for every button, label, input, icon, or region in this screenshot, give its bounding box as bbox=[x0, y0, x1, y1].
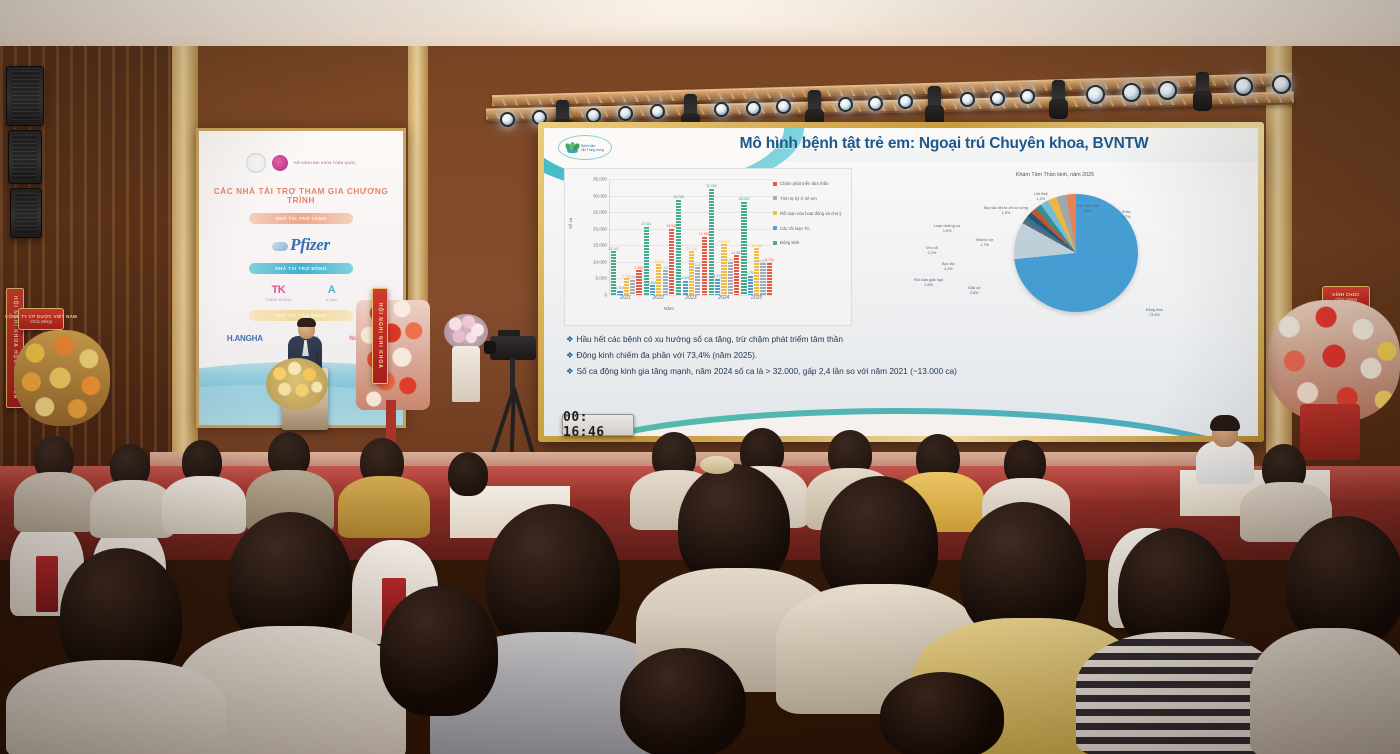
legend-label: Tình tự kỷ ở trẻ em bbox=[780, 196, 817, 201]
bar: 2.880 bbox=[650, 285, 655, 295]
sponsor-pfizer-logo: Pfizer bbox=[199, 235, 403, 255]
presenter-hair bbox=[297, 318, 316, 327]
sponsor-item: A A Nam bbox=[326, 284, 337, 302]
stage-light bbox=[1158, 81, 1177, 100]
pie-slice-label: Bại não2,4% bbox=[942, 262, 955, 271]
audience-body-foreground bbox=[6, 660, 226, 754]
legend-item: Động kinh bbox=[773, 240, 847, 245]
bar: 4.910 bbox=[715, 279, 720, 295]
bar: 28.083 bbox=[741, 202, 746, 295]
moving-head-fixture bbox=[928, 86, 941, 120]
bar-chart-legend: Chậm phát triển tâm thầnTình tự kỷ ở trẻ… bbox=[773, 181, 847, 255]
bar-chart-y-ticks: 05,00010,00015,00020,00025,00030,00035,0… bbox=[575, 179, 607, 295]
slide-title: Mô hình bệnh tật trẻ em: Ngoại trú Chuyê… bbox=[640, 135, 1248, 153]
wall-pillar-right bbox=[1266, 46, 1292, 476]
presentation-slide: Bệnh viện Nhi Trung ương Mô hình bệnh tậ… bbox=[544, 128, 1258, 436]
wall-pillar-left bbox=[172, 46, 198, 476]
pie-slice-name: Vẹo cổ bbox=[926, 246, 938, 251]
stage-light bbox=[1122, 83, 1141, 102]
legend-item: Rối loạn của hoạt động và chú ý bbox=[773, 211, 847, 216]
pie-slice-value: 2,2% bbox=[926, 251, 938, 256]
legend-item: Chậm phát triển tâm thần bbox=[773, 181, 847, 186]
slide-bullet: ❖Hầu hết các bệnh có xu hướng số ca tăng… bbox=[566, 334, 1242, 345]
bar: 4.378 bbox=[683, 281, 688, 296]
stage-light bbox=[898, 94, 913, 109]
y-tick-label: 30,000 bbox=[593, 193, 607, 198]
congrats-sign-left: CÔNG TY CP DƯỢC VIỆT NAM Chúc Mừng bbox=[18, 308, 64, 330]
pie-slice-label: Giật cơ2,8% bbox=[968, 286, 980, 295]
pie-slice-value: 1,6% bbox=[934, 229, 960, 234]
slide-bullets: ❖Hầu hết các bệnh có xu hướng số ca tăng… bbox=[566, 334, 1242, 381]
stage-light bbox=[746, 101, 761, 116]
pfizer-pill-icon bbox=[272, 242, 288, 251]
pie-slice-name: Giật cơ bbox=[968, 286, 980, 291]
x-tick-label: 2024 bbox=[718, 295, 729, 307]
bullet-marker-icon: ❖ bbox=[566, 366, 573, 376]
bar: 11.937 bbox=[734, 255, 739, 295]
legend-label: Rối loạn của hoạt động và chú ý bbox=[780, 211, 841, 216]
y-tick-label: 20,000 bbox=[593, 226, 607, 231]
legend-swatch bbox=[773, 182, 777, 186]
org-seal-icon bbox=[246, 153, 266, 173]
slide-bullet-text: Số ca động kinh gia tăng mạnh, năm 2024 … bbox=[576, 366, 956, 376]
bar-value-label: 8.445 bbox=[693, 263, 702, 267]
audience-head-foreground bbox=[620, 648, 746, 754]
conference-photo: HỘI NGHỊ NHI KHOA TOÀN QUỐC CÁC NHÀ TÀI … bbox=[0, 0, 1400, 754]
bar-value-label: 9.733 bbox=[765, 258, 774, 262]
pie-slice-value: 2,4% bbox=[942, 267, 955, 272]
legend-swatch bbox=[773, 196, 777, 200]
bullet-marker-icon: ❖ bbox=[566, 334, 573, 344]
bar: 7.515 bbox=[663, 270, 668, 295]
bar-value-label: 9.276 bbox=[655, 260, 664, 264]
audience-head bbox=[448, 452, 488, 496]
pie-slice-label: Bại não liệt tứ chi co cứng1,5% bbox=[984, 206, 1028, 215]
pie-slice-value: 1,7% bbox=[976, 243, 993, 248]
pie-slice-name: Rối loạn giấc ngủ bbox=[914, 278, 943, 283]
legend-swatch bbox=[773, 241, 777, 245]
stage-light bbox=[714, 102, 729, 117]
flower-wreath-large bbox=[356, 300, 430, 410]
led-screen-frame: Bệnh viện Nhi Trung ương Mô hình bệnh tậ… bbox=[538, 122, 1264, 442]
pie-slice-name: Nhược cơ bbox=[976, 238, 993, 243]
flower-arrangement-podium bbox=[266, 358, 328, 410]
legend-label: Chậm phát triển tâm thần bbox=[780, 181, 829, 186]
pie-slice-name: Bại não liệt tứ chi co cứng bbox=[984, 206, 1028, 211]
sponsor-pfizer-name: Pfizer bbox=[290, 235, 330, 254]
stage-light bbox=[500, 112, 515, 127]
legend-item: Các rối loạn Tic bbox=[773, 226, 847, 231]
bar: 14.135 bbox=[754, 248, 759, 295]
pa-speaker-left-mid bbox=[8, 130, 42, 184]
stage-light bbox=[990, 91, 1005, 106]
poster-org-logos: HỘI NGHỊ NHI KHOA TOÀN QUỐC bbox=[199, 131, 403, 173]
x-tick-label: 2025 bbox=[751, 295, 762, 307]
stage-light bbox=[838, 97, 853, 112]
poster-tier-gold: NHÀ TÀI TRỢ VÀNG bbox=[249, 213, 353, 224]
org-mark-icon bbox=[272, 155, 288, 171]
bar-group: 20.6112.8809.2767.51519.948 bbox=[644, 179, 675, 295]
pie-slice-label: Rối loạn giấc ngủ2,6% bbox=[914, 278, 943, 287]
audience-body bbox=[14, 472, 96, 532]
pie-slice-label: Liệt Bell1,2% bbox=[1034, 192, 1048, 201]
pie-slice-label: Vẹo cổ2,2% bbox=[926, 246, 938, 255]
y-tick-label: 0 bbox=[604, 293, 607, 298]
bar: 17.518 bbox=[702, 237, 707, 295]
pie-slice-label: Khác9,7% bbox=[1122, 210, 1131, 219]
pie-slice-value: 73,4% bbox=[1146, 313, 1163, 318]
pie-slice-name: Động kinh bbox=[1146, 308, 1163, 313]
sponsor-item: TK THANH KHANG bbox=[265, 284, 292, 302]
moving-head-fixture bbox=[1196, 72, 1209, 106]
pie-slice-value: 9,7% bbox=[1122, 215, 1131, 220]
pie-chart: Khám Tâm Thần kinh, năm 2025 Động kinh73… bbox=[864, 168, 1246, 326]
bar-value-label: 13.147 bbox=[608, 247, 619, 251]
legend-label: Động kinh bbox=[780, 240, 799, 245]
bar: 28.789 bbox=[676, 200, 681, 295]
bar: 7.526 bbox=[636, 270, 641, 295]
stage-light bbox=[618, 106, 633, 121]
pie-slice-value: 1,5% bbox=[984, 211, 1028, 216]
bar-value-label: 1.305 bbox=[616, 286, 625, 290]
x-tick-label: 2023 bbox=[685, 295, 696, 307]
stage-light bbox=[650, 104, 665, 119]
stage-light bbox=[776, 99, 791, 114]
sponsor-sub: A Nam bbox=[326, 298, 337, 302]
stage-light bbox=[1020, 89, 1035, 104]
bar: 8.445 bbox=[695, 267, 700, 295]
bar: 9.828 bbox=[728, 262, 733, 295]
pie-slice-name: Khác bbox=[1122, 210, 1131, 215]
bar: 5.111 bbox=[624, 278, 629, 295]
poster-headline: CÁC NHÀ TÀI TRỢ THAM GIA CHƯƠNG TRÌNH bbox=[199, 187, 403, 205]
vertical-banner-mid-left: HỘI NGHỊ NHI KHOA bbox=[372, 288, 388, 384]
flower-vase-right bbox=[1300, 404, 1360, 460]
y-tick-label: 35,000 bbox=[593, 177, 607, 182]
pie-slice-label: Tràn dịch não0,9% bbox=[1076, 204, 1099, 213]
ceiling-light-glow bbox=[430, 0, 970, 46]
y-tick-label: 15,000 bbox=[593, 243, 607, 248]
hospital-logo-text: Bệnh viện Nhi Trung ương bbox=[581, 144, 603, 152]
bar-chart-x-ticks: 20212022202320242025 bbox=[609, 295, 773, 307]
legend-swatch bbox=[773, 226, 777, 230]
audience-head-foreground bbox=[380, 586, 498, 716]
sponsor-mark: A bbox=[326, 284, 337, 296]
audience-body bbox=[338, 476, 430, 538]
legend-swatch bbox=[773, 211, 777, 215]
stage-light bbox=[586, 108, 601, 123]
moving-head-fixture bbox=[808, 90, 821, 124]
bar-chart-x-axis-label: Năm bbox=[565, 307, 773, 312]
bar: 19.948 bbox=[669, 229, 674, 295]
congrats-sign-left-line2: Chúc Mừng bbox=[30, 319, 52, 324]
bar-value-label: 14.135 bbox=[751, 244, 762, 248]
pie-slice-name: Liệt Bell bbox=[1034, 192, 1048, 197]
bar-chart-plot: 13.1471.3055.1114.5907.52620.6112.8809.2… bbox=[609, 179, 773, 295]
stage-light bbox=[1234, 77, 1253, 96]
stage-light bbox=[1272, 75, 1291, 94]
bullet-marker-icon: ❖ bbox=[566, 350, 573, 360]
pie-slice-label: Động kinh73,4% bbox=[1146, 308, 1163, 317]
bar-chart: Số ca 05,00010,00015,00020,00025,00030,0… bbox=[564, 168, 852, 326]
audience-body bbox=[162, 476, 246, 534]
bar-group: 13.1471.3055.1114.5907.526 bbox=[611, 179, 642, 295]
audience-body-foreground bbox=[1250, 628, 1400, 754]
bar-value-label: 20.611 bbox=[641, 222, 651, 226]
sponsor-name: H.ANGHA bbox=[227, 334, 263, 343]
bar-value-label: 13.132 bbox=[686, 247, 697, 251]
bar: 4.590 bbox=[630, 280, 635, 295]
pie-slice-value: 2,6% bbox=[914, 283, 943, 288]
moving-head-fixture bbox=[1052, 80, 1065, 114]
sponsor-mark: TK bbox=[265, 284, 292, 296]
slide-bullet: ❖Số ca động kinh gia tăng mạnh, năm 2024… bbox=[566, 366, 1242, 377]
bar-value-label: 32.056 bbox=[706, 184, 717, 188]
camera-lens-icon bbox=[484, 341, 496, 354]
bar-chart-y-axis-label: Số ca bbox=[568, 218, 573, 229]
leaf-icon bbox=[566, 142, 579, 153]
bar: 15.351 bbox=[721, 244, 726, 295]
y-tick-label: 10,000 bbox=[593, 259, 607, 264]
chair-sash bbox=[36, 556, 58, 612]
flower-pedestal bbox=[452, 346, 480, 402]
audience-head-foreground bbox=[880, 672, 1004, 754]
bar: 32.056 bbox=[709, 189, 714, 295]
x-tick-label: 2022 bbox=[653, 295, 664, 307]
bar: 5.759 bbox=[748, 276, 753, 295]
bar: 9.733 bbox=[767, 263, 772, 295]
poster-tier-bronze-1: NHÀ TÀI TRỢ ĐỒNG bbox=[249, 263, 353, 274]
flower-arrangement-pedestal bbox=[444, 314, 488, 350]
x-tick-label: 2021 bbox=[620, 295, 631, 307]
slide-bullet: ❖Động kinh chiếm đa phần với 73,4% (năm … bbox=[566, 350, 1242, 361]
pa-speaker-left-top bbox=[6, 66, 44, 126]
pie-slice-value: 1,2% bbox=[1034, 197, 1048, 202]
legend-label: Các rối loạn Tic bbox=[780, 226, 810, 231]
pie-chart-title: Khám Tâm Thần kinh, năm 2025 bbox=[864, 172, 1246, 178]
vertical-banner-mid-text: HỘI NGHỊ NHI KHOA bbox=[377, 303, 383, 369]
pie-slice-label: Nhược cơ1,7% bbox=[976, 238, 993, 247]
pie-slice-value: 2,8% bbox=[968, 291, 980, 296]
bar: 9.517 bbox=[760, 263, 765, 295]
pie-slice-name: Tràn dịch não bbox=[1076, 204, 1099, 209]
y-tick-label: 25,000 bbox=[593, 210, 607, 215]
flower-basket-left bbox=[14, 330, 110, 426]
stage-light bbox=[960, 92, 975, 107]
video-camera-body bbox=[490, 336, 536, 360]
pie-slice-name: Loạn dưỡng cơ bbox=[934, 224, 960, 229]
bar-value-label: 28.083 bbox=[739, 197, 750, 201]
bar-value-label: 28.789 bbox=[673, 195, 684, 199]
pie-slice-label: Loạn dưỡng cơ1,6% bbox=[934, 224, 960, 233]
y-tick-label: 5,000 bbox=[596, 276, 608, 281]
slide-bullet-text: Động kinh chiếm đa phần với 73,4% (năm 2… bbox=[576, 350, 757, 360]
bar-group: 32.0564.91015.3519.82811.937 bbox=[709, 179, 740, 295]
bar-group: 28.7894.37813.1328.44517.518 bbox=[676, 179, 707, 295]
stage-light bbox=[1086, 85, 1105, 104]
bar-value-label: 15.351 bbox=[719, 240, 730, 244]
pie-slice-name: Bại não bbox=[942, 262, 955, 267]
panelist-hair bbox=[1210, 415, 1240, 431]
countdown-timer: 00: 16:46 bbox=[562, 414, 634, 436]
pa-speaker-left-low bbox=[10, 188, 42, 238]
legend-item: Tình tự kỷ ở trẻ em bbox=[773, 196, 847, 201]
audience-head-foreground bbox=[486, 504, 620, 652]
bar-group: 28.0835.75914.1359.5179.733 bbox=[741, 179, 772, 295]
bar-value-label: 7.526 bbox=[635, 266, 644, 270]
poster-org-text: HỘI NGHỊ NHI KHOA TOÀN QUỐC bbox=[294, 161, 356, 165]
hair-bow-accessory bbox=[700, 456, 734, 474]
pie-slice-value: 0,9% bbox=[1076, 209, 1099, 214]
hospital-logo: Bệnh viện Nhi Trung ương bbox=[558, 135, 612, 160]
bar: 13.132 bbox=[689, 251, 694, 295]
slide-bullet-text: Hầu hết các bệnh có xu hướng số ca tăng,… bbox=[576, 334, 843, 344]
stage-light bbox=[868, 96, 883, 111]
sponsor-sub: THANH KHANG bbox=[265, 298, 292, 302]
